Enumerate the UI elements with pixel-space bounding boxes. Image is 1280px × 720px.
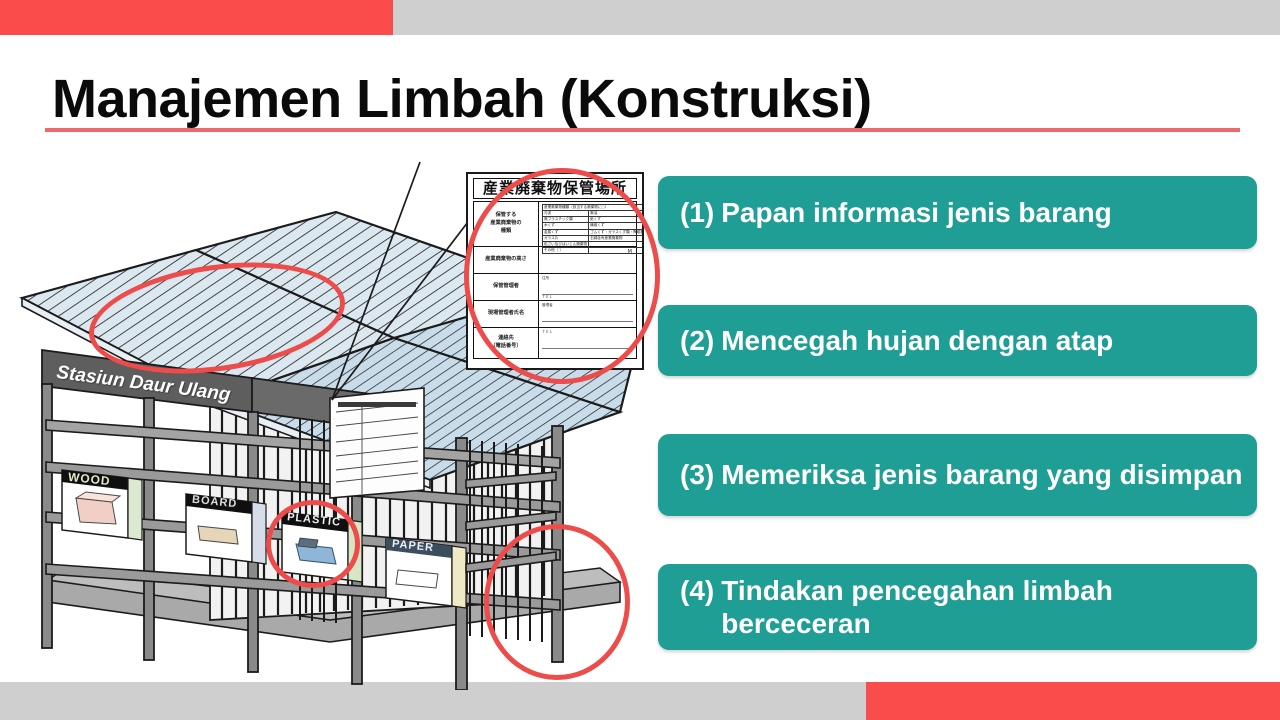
point-number-4: (4) xyxy=(680,574,714,607)
point-number-1: (1) xyxy=(680,196,714,229)
point-text-1: Papan informasi jenis barang xyxy=(721,196,1112,229)
point-text-4: Tindakan pencegahan limbah berceceran xyxy=(721,574,1257,640)
point-number-2: (2) xyxy=(680,324,714,357)
annotation-ellipse-sign xyxy=(464,168,660,384)
point-box-4[interactable]: (4) Tindakan pencegahan limbah bercecera… xyxy=(658,564,1257,650)
slide-canvas: Manajemen Limbah (Konstruksi) xyxy=(0,0,1280,720)
point-text-3: Memeriksa jenis barang yang disimpan xyxy=(721,458,1242,491)
page-title: Manajemen Limbah (Konstruksi) xyxy=(52,72,872,126)
annotation-ellipse-plastic-bin xyxy=(266,500,360,588)
point-box-2[interactable]: (2) Mencegah hujan dengan atap xyxy=(658,305,1257,376)
bottom-red-band xyxy=(866,682,1280,720)
wall-waste-sign xyxy=(330,388,424,498)
point-text-2: Mencegah hujan dengan atap xyxy=(721,324,1113,357)
title-underline xyxy=(45,128,1240,132)
annotation-ellipse-spill xyxy=(484,524,630,680)
point-number-3: (3) xyxy=(680,458,714,491)
point-box-1[interactable]: (1) Papan informasi jenis barang xyxy=(658,176,1257,249)
point-box-3[interactable]: (3) Memeriksa jenis barang yang disimpan xyxy=(658,434,1257,516)
top-red-band xyxy=(0,0,393,35)
top-gray-band xyxy=(393,0,1280,35)
